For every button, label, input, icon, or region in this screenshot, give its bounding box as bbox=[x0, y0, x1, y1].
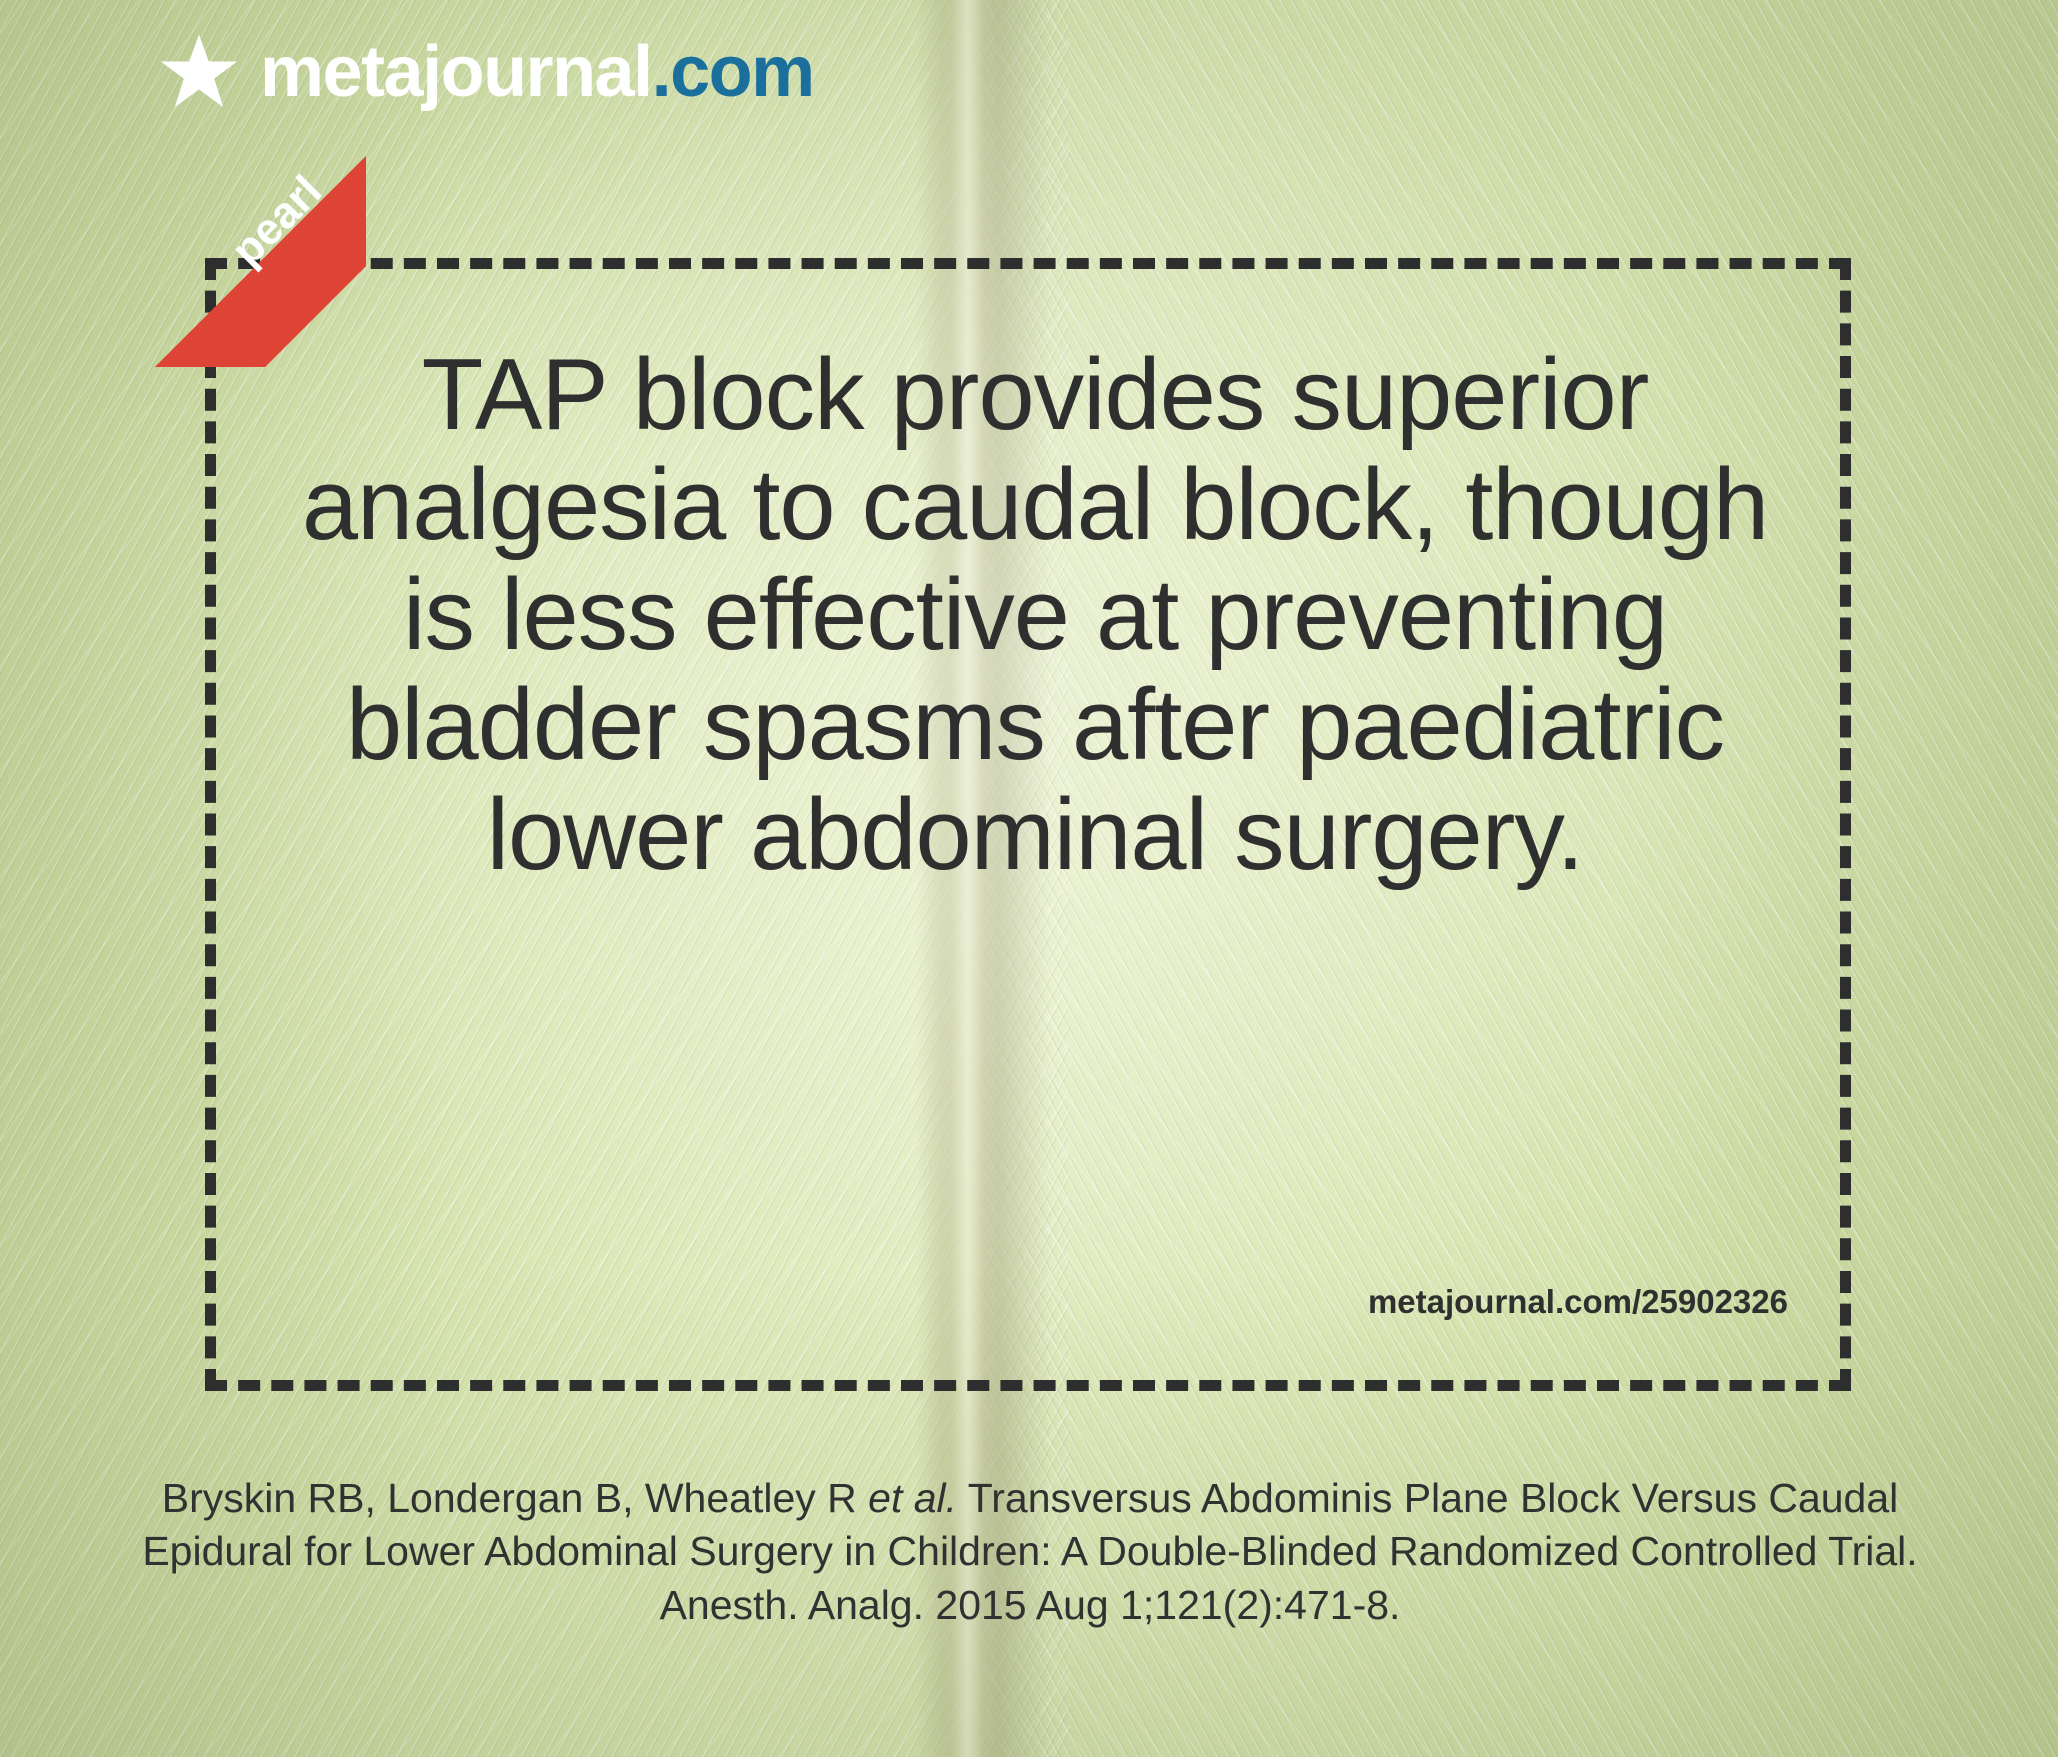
citation: Bryskin RB, Londergan B, Wheatley R et a… bbox=[130, 1472, 1930, 1632]
site-logo[interactable]: metajournal.com bbox=[160, 22, 814, 122]
citation-et-al: et al. bbox=[868, 1475, 957, 1521]
citation-authors: Bryskin RB, Londergan B, Wheatley R bbox=[162, 1475, 857, 1521]
citation-source: Anesth. Analg. 2015 Aug 1;121(2):471-8. bbox=[660, 1582, 1401, 1628]
pearl-ribbon[interactable]: pearl bbox=[136, 137, 366, 367]
pearl-card: metajournal.com TAP block provides super… bbox=[0, 0, 2058, 1757]
logo-tld: .com bbox=[652, 32, 814, 112]
logo-name: metajournal bbox=[260, 32, 652, 112]
logo-wordmark: metajournal.com bbox=[260, 36, 814, 108]
permalink-label[interactable]: metajournal.com/25902326 bbox=[1368, 1283, 1788, 1321]
star-icon bbox=[160, 33, 238, 111]
pearl-quote: TAP block provides superior analgesia to… bbox=[255, 340, 1815, 890]
